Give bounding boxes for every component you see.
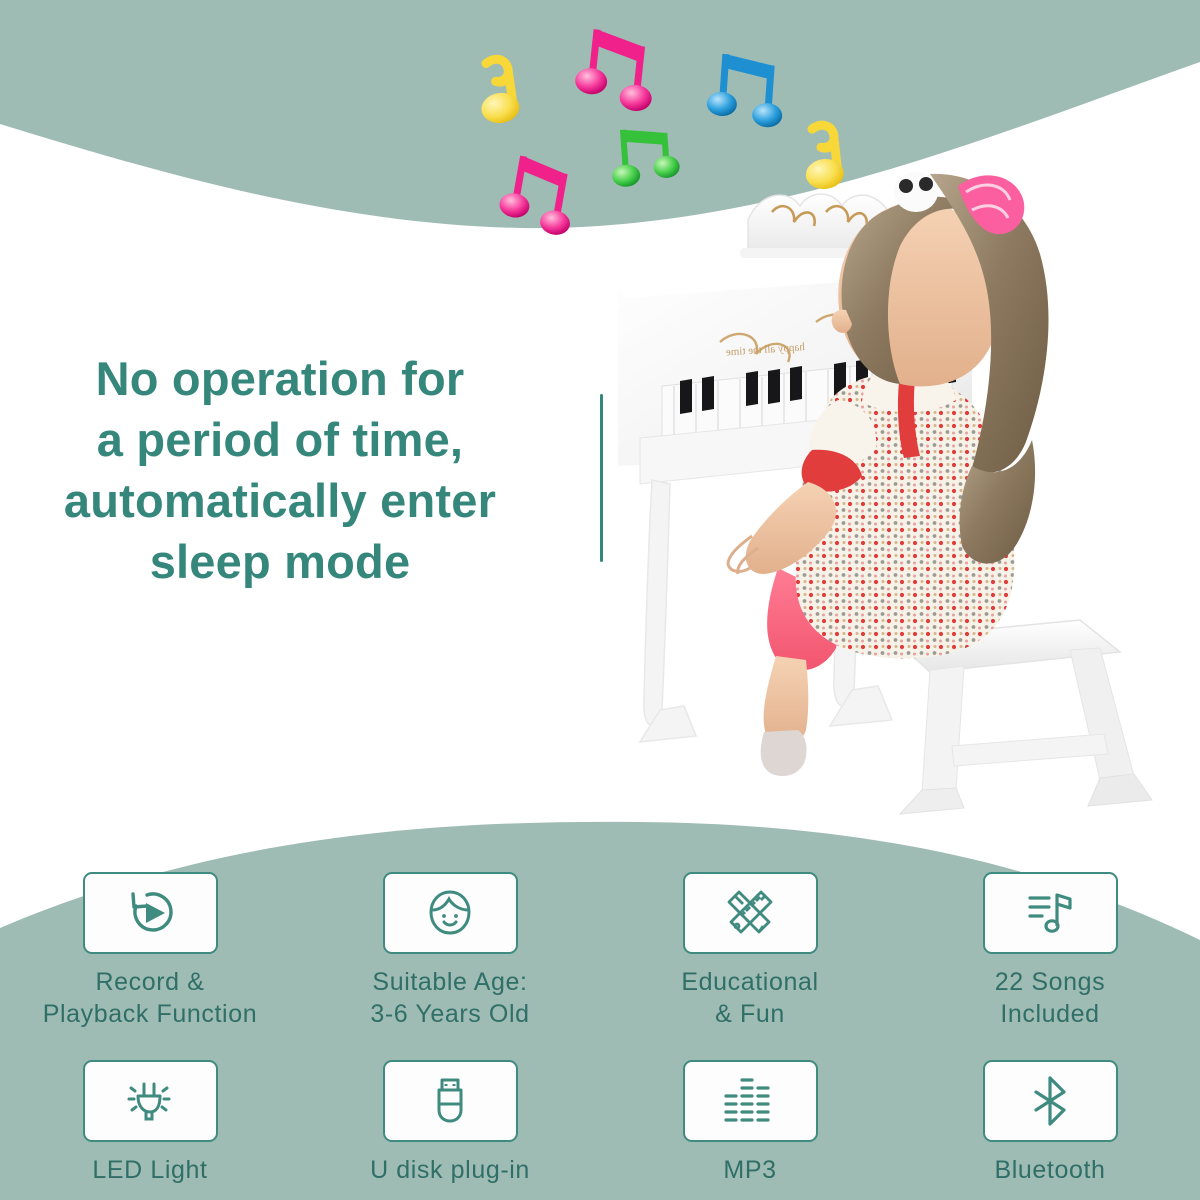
- feature-udisk[interactable]: U disk plug-in: [300, 1060, 600, 1187]
- feature-bluetooth[interactable]: Bluetooth: [900, 1060, 1200, 1187]
- feature-grid: Record & Playback Function Suitable Age:: [0, 872, 1200, 1200]
- feature-card[interactable]: [83, 872, 218, 954]
- feature-label: Record & Playback Function: [43, 967, 257, 1030]
- feature-card[interactable]: [683, 1060, 818, 1142]
- feature-label: LED Light: [92, 1155, 207, 1187]
- feature-record-playback[interactable]: Record & Playback Function: [0, 872, 300, 1030]
- led-plug-icon: [123, 1074, 177, 1128]
- music-note-pink-beamed-lower: [498, 146, 585, 240]
- feature-songs-included[interactable]: 22 Songs Included: [900, 872, 1200, 1030]
- feature-label: Educational & Fun: [681, 967, 818, 1030]
- feature-label: U disk plug-in: [370, 1155, 530, 1187]
- feature-card[interactable]: [983, 872, 1118, 954]
- feature-label: 22 Songs Included: [995, 967, 1105, 1030]
- ruler-pencil-icon: [723, 886, 777, 940]
- headline-line-1: No operation for: [0, 348, 560, 409]
- poster-canvas: No operation for a period of time, autom…: [0, 0, 1200, 1200]
- child-sock: [761, 730, 807, 776]
- feature-label: MP3: [723, 1155, 776, 1187]
- music-note-yellow-single: [465, 48, 533, 133]
- usb-drive-icon: [423, 1074, 477, 1128]
- feature-card[interactable]: [983, 1060, 1118, 1142]
- feature-card[interactable]: [683, 872, 818, 954]
- feature-card[interactable]: [383, 872, 518, 954]
- panda-hair-clip: [894, 172, 938, 212]
- feature-row-1: Record & Playback Function Suitable Age:: [0, 872, 1200, 1030]
- feature-label: Bluetooth: [994, 1155, 1105, 1187]
- child-face-icon: [423, 886, 477, 940]
- product-photo: happy all the time: [600, 150, 1200, 870]
- headline: No operation for a period of time, autom…: [0, 348, 560, 592]
- music-note-blue-beamed: [709, 45, 793, 132]
- headline-line-2: a period of time,: [0, 409, 560, 470]
- feature-label: Suitable Age: 3-6 Years Old: [370, 967, 529, 1030]
- headline-line-4: sleep mode: [0, 531, 560, 592]
- feature-row-2: LED Light U disk: [0, 1060, 1200, 1187]
- record-playback-icon: [123, 886, 177, 940]
- headline-line-3: automatically enter: [0, 470, 560, 531]
- feature-mp3[interactable]: MP3: [600, 1060, 900, 1187]
- music-note-pink-beamed-upper: [576, 18, 663, 112]
- music-note-list-icon: [1023, 886, 1077, 940]
- feature-card[interactable]: [383, 1060, 518, 1142]
- bluetooth-icon: [1023, 1074, 1077, 1128]
- feature-suitable-age[interactable]: Suitable Age: 3-6 Years Old: [300, 872, 600, 1030]
- feature-led-light[interactable]: LED Light: [0, 1060, 300, 1187]
- feature-educational-fun[interactable]: Educational & Fun: [600, 872, 900, 1030]
- feature-card[interactable]: [83, 1060, 218, 1142]
- equalizer-icon: [721, 1074, 779, 1128]
